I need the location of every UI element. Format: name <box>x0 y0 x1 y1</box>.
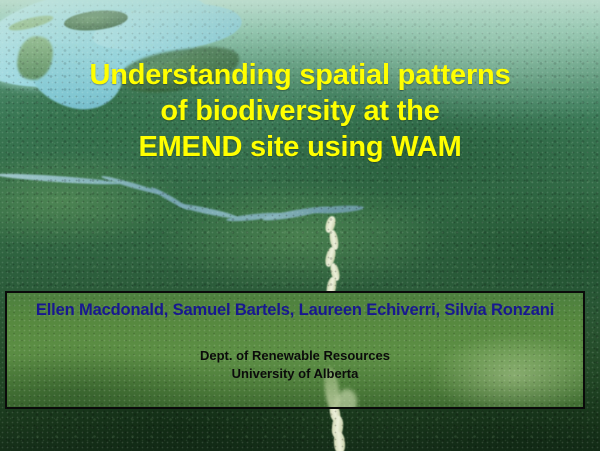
affiliation-institution: University of Alberta <box>7 365 583 383</box>
slide-title-line-1: Understanding spatial patterns <box>0 57 600 93</box>
affiliation: Dept. of Renewable Resources University … <box>7 347 583 383</box>
author-affiliation-box: Ellen Macdonald, Samuel Bartels, Laureen… <box>5 291 585 409</box>
slide-title: Understanding spatial patterns of biodiv… <box>0 57 600 165</box>
slide-title-line-2: of biodiversity at the <box>0 93 600 129</box>
affiliation-department: Dept. of Renewable Resources <box>7 347 583 365</box>
slide-title-line-3: EMEND site using WAM <box>0 129 600 165</box>
author-list: Ellen Macdonald, Samuel Bartels, Laureen… <box>7 301 583 320</box>
author-box-trail-detail-lower <box>337 389 357 409</box>
title-slide: Understanding spatial patterns of biodiv… <box>0 0 600 451</box>
